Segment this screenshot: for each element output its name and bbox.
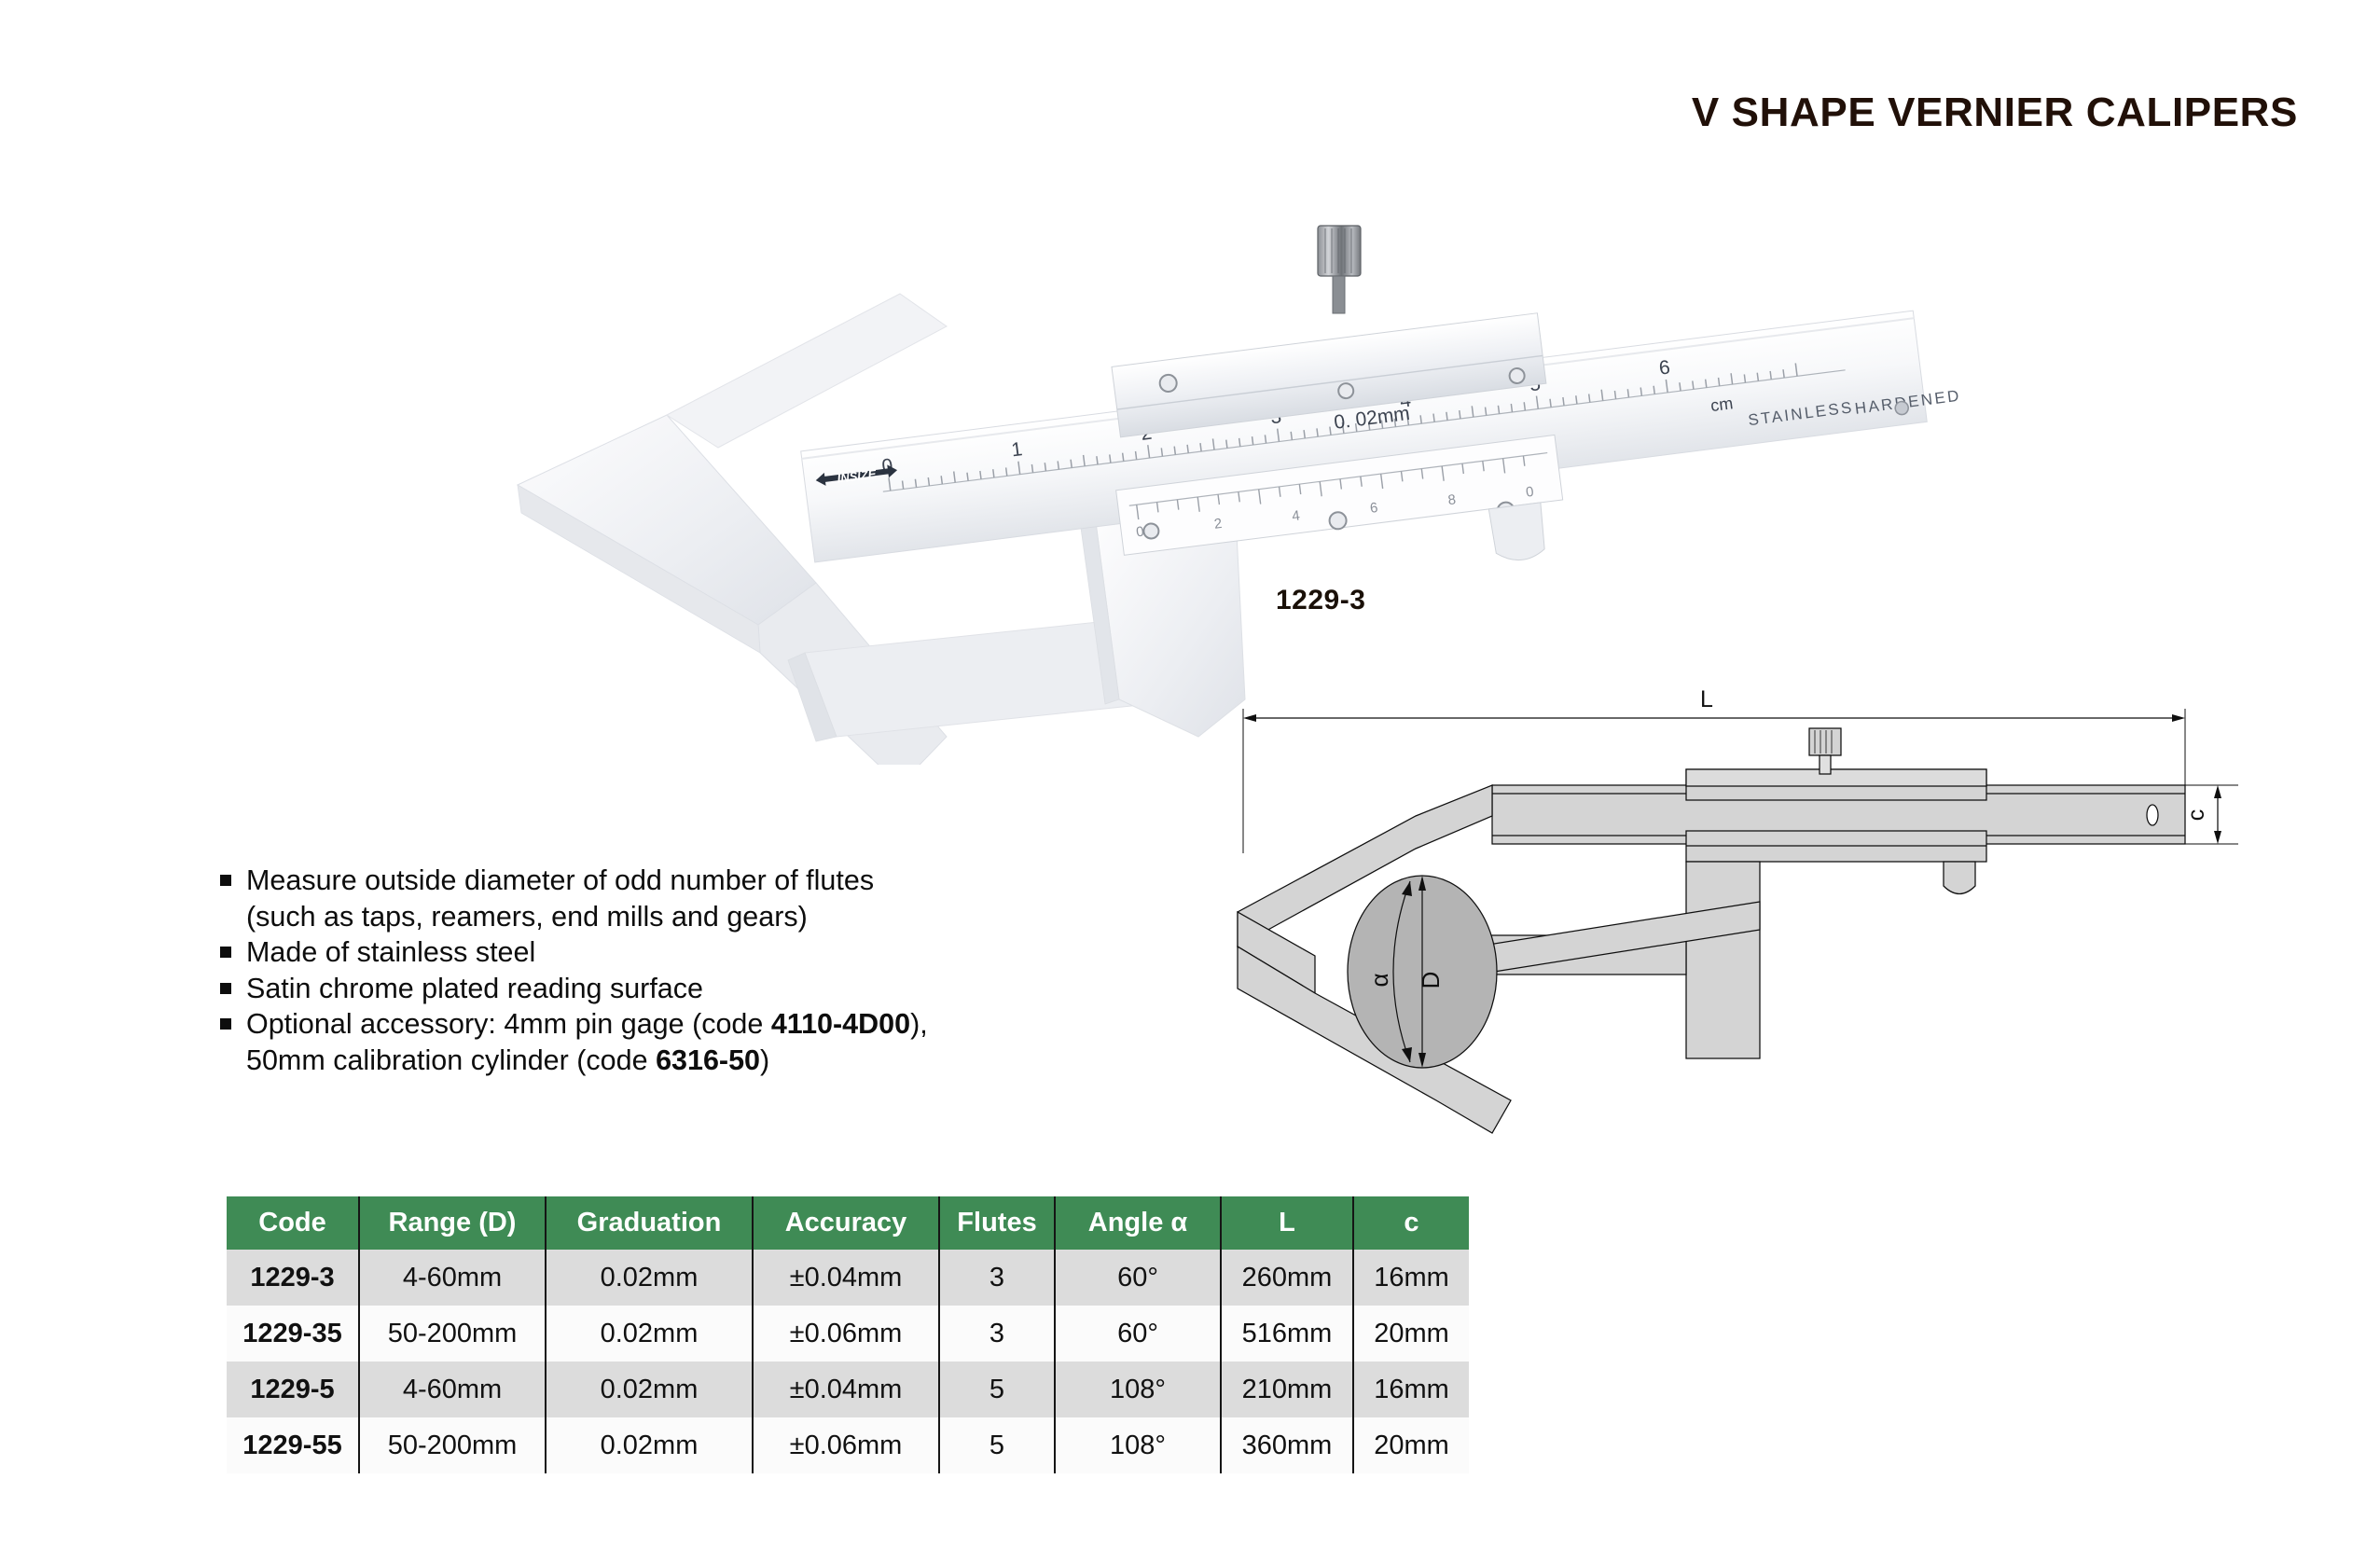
cell-accuracy: ±0.04mm	[753, 1250, 939, 1306]
cell-graduation: 0.02mm	[546, 1250, 753, 1306]
depth-tongue	[1944, 862, 1975, 894]
feature-text: Measure outside diameter of odd number o…	[246, 864, 874, 896]
cell-angle: 108°	[1055, 1417, 1221, 1473]
cell-code: 1229-55	[227, 1417, 359, 1473]
bullet-square-icon	[220, 1018, 231, 1030]
slider-block-upper	[1686, 769, 1986, 800]
feature-list: Measure outside diameter of odd number o…	[216, 863, 1112, 1078]
page-title: V SHAPE VERNIER CALIPERS	[1692, 90, 2298, 136]
cell-length: 210mm	[1221, 1362, 1353, 1417]
specification-table: Code Range (D) Graduation Accuracy Flute…	[227, 1196, 1469, 1473]
cell-angle: 60°	[1055, 1306, 1221, 1362]
datasheet-page: V SHAPE VERNIER CALIPERS	[0, 0, 2380, 1562]
feature-text-line2: 50mm calibration cylinder (code	[246, 1044, 656, 1076]
feature-text: Made of stainless steel	[246, 936, 535, 968]
cell-accuracy: ±0.06mm	[753, 1306, 939, 1362]
thumb-screw	[1318, 226, 1361, 313]
table-row: 1229-5 4-60mm 0.02mm ±0.04mm 5 108° 210m…	[227, 1362, 1469, 1417]
dimension-label-L: L	[1700, 686, 1713, 712]
cell-graduation: 0.02mm	[546, 1362, 753, 1417]
cell-flutes: 5	[939, 1362, 1055, 1417]
cell-range: 50-200mm	[359, 1306, 546, 1362]
dimension-label-c: c	[2183, 809, 2209, 822]
cell-range: 50-200mm	[359, 1417, 546, 1473]
cell-thickness: 16mm	[1353, 1362, 1469, 1417]
cell-length: 516mm	[1221, 1306, 1353, 1362]
slider-block-lower	[1686, 831, 1986, 862]
column-header-range: Range (D)	[359, 1196, 546, 1250]
cell-accuracy: ±0.06mm	[753, 1417, 939, 1473]
cell-thickness: 20mm	[1353, 1417, 1469, 1473]
feature-text-line2: (such as taps, reamers, end mills and ge…	[246, 901, 808, 933]
cell-graduation: 0.02mm	[546, 1417, 753, 1473]
column-header-code: Code	[227, 1196, 359, 1250]
column-header-L: L	[1221, 1196, 1353, 1250]
cell-thickness: 16mm	[1353, 1250, 1469, 1306]
column-header-graduation: Graduation	[546, 1196, 753, 1250]
model-code-label: 1229-3	[1276, 585, 1365, 616]
dimension-label-alpha: α	[1365, 973, 1393, 987]
technical-drawing: L c	[1212, 667, 2380, 1175]
cell-length: 260mm	[1221, 1250, 1353, 1306]
column-header-accuracy: Accuracy	[753, 1196, 939, 1250]
feature-text-line2-suffix: )	[760, 1044, 769, 1076]
cell-range: 4-60mm	[359, 1250, 546, 1306]
cell-graduation: 0.02mm	[546, 1306, 753, 1362]
list-item: Made of stainless steel	[216, 934, 1112, 971]
cell-thickness: 20mm	[1353, 1306, 1469, 1362]
table-row: 1229-3 4-60mm 0.02mm ±0.04mm 3 60° 260mm…	[227, 1250, 1469, 1306]
unit-label: cm	[1709, 394, 1734, 415]
cell-angle: 60°	[1055, 1250, 1221, 1306]
cell-flutes: 5	[939, 1417, 1055, 1473]
cell-flutes: 3	[939, 1306, 1055, 1362]
bullet-square-icon	[220, 875, 231, 886]
list-item: Optional accessory: 4mm pin gage (code 4…	[216, 1006, 1112, 1078]
cell-length: 360mm	[1221, 1417, 1353, 1473]
column-header-c: c	[1353, 1196, 1469, 1250]
cell-code: 1229-3	[227, 1250, 359, 1306]
feature-text-mid: ),	[910, 1008, 928, 1040]
list-item: Measure outside diameter of odd number o…	[216, 863, 1112, 934]
list-item: Satin chrome plated reading surface	[216, 971, 1112, 1007]
cell-angle: 108°	[1055, 1362, 1221, 1417]
cell-accuracy: ±0.04mm	[753, 1362, 939, 1417]
bullet-square-icon	[220, 947, 231, 958]
bullet-square-icon	[220, 983, 231, 994]
table-row: 1229-55 50-200mm 0.02mm ±0.06mm 5 108° 3…	[227, 1417, 1469, 1473]
table-row: 1229-35 50-200mm 0.02mm ±0.06mm 3 60° 51…	[227, 1306, 1469, 1362]
cell-flutes: 3	[939, 1250, 1055, 1306]
sliding-jaw-arm	[1686, 862, 1760, 1058]
accessory-code-pin-gage: 4110-4D00	[771, 1008, 910, 1040]
cell-code: 1229-5	[227, 1362, 359, 1417]
cell-code: 1229-35	[227, 1306, 359, 1362]
cell-range: 4-60mm	[359, 1362, 546, 1417]
feature-text: Optional accessory: 4mm pin gage (code	[246, 1008, 771, 1040]
table-header-row: Code Range (D) Graduation Accuracy Flute…	[227, 1196, 1469, 1250]
column-header-flutes: Flutes	[939, 1196, 1055, 1250]
thumbscrew-drawing	[1809, 728, 1841, 774]
accessory-code-cylinder: 6316-50	[656, 1044, 760, 1076]
workpiece-circle: α D	[1348, 876, 1497, 1068]
dimension-label-D: D	[1417, 972, 1445, 989]
dimension-c: c	[2183, 785, 2238, 844]
column-header-angle: Angle α	[1055, 1196, 1221, 1250]
feature-text: Satin chrome plated reading surface	[246, 973, 703, 1004]
